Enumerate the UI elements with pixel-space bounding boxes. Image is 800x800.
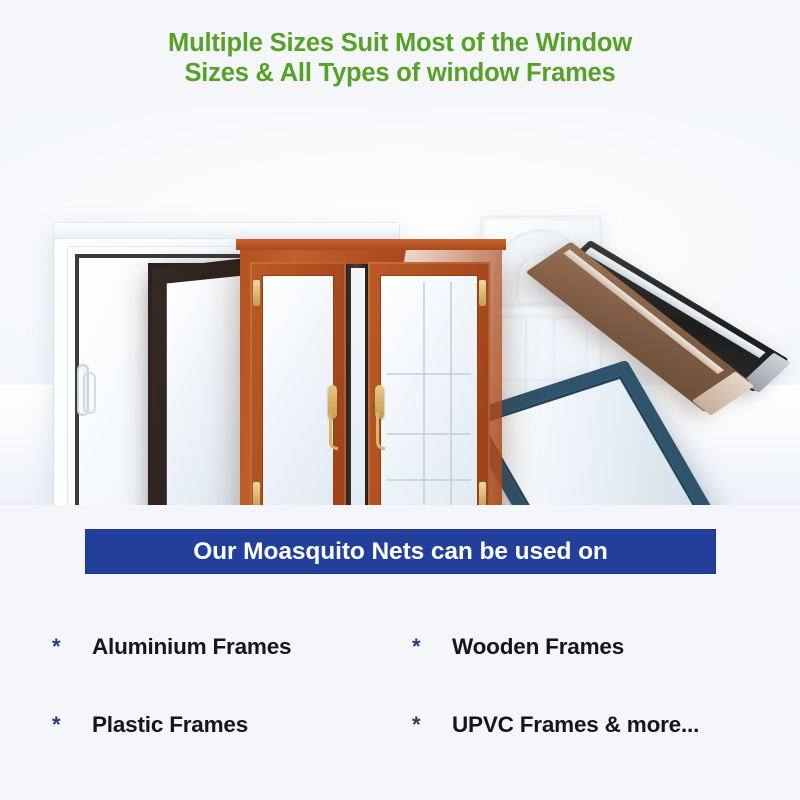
wooden-window-right-glass bbox=[380, 275, 478, 505]
list-item: * Plastic Frames bbox=[44, 686, 404, 764]
page-title-line-2: Sizes & All Types of window Frames bbox=[0, 58, 800, 88]
hinge-icon bbox=[479, 280, 486, 306]
wooden-window-right-leaf bbox=[368, 262, 490, 505]
list-item: * Wooden Frames bbox=[404, 608, 774, 686]
list-item-label: Aluminium Frames bbox=[92, 634, 291, 660]
usage-banner-label: Our Moasquito Nets can be used on bbox=[193, 538, 608, 566]
sliding-window-handle bbox=[77, 364, 89, 416]
wooden-window-mullion bbox=[346, 264, 370, 505]
glass-reflection bbox=[387, 373, 471, 375]
wooden-double-casement-window bbox=[240, 248, 502, 505]
wooden-window-lintel bbox=[236, 239, 506, 250]
asterisk-icon: * bbox=[404, 714, 438, 736]
wooden-window-mullion-glass bbox=[351, 268, 365, 505]
usage-banner: Our Moasquito Nets can be used on bbox=[86, 530, 715, 573]
hinge-icon bbox=[253, 482, 260, 505]
glass-reflection bbox=[423, 282, 425, 505]
wooden-window-frame bbox=[240, 248, 502, 505]
list-item-label: Plastic Frames bbox=[92, 712, 248, 738]
page-title: Multiple Sizes Suit Most of the Window S… bbox=[0, 28, 800, 88]
list-item: * UPVC Frames & more... bbox=[404, 686, 774, 764]
product-image bbox=[0, 105, 800, 505]
frame-type-list: * Aluminium Frames * Wooden Frames * Pla… bbox=[44, 608, 774, 764]
glass-reflection bbox=[450, 282, 452, 505]
asterisk-icon: * bbox=[44, 636, 78, 658]
wooden-window-left-glass bbox=[262, 275, 334, 505]
list-item-label: UPVC Frames & more... bbox=[452, 712, 699, 738]
wooden-window-right-handle bbox=[375, 385, 384, 419]
asterisk-icon: * bbox=[404, 636, 438, 658]
glass-reflection bbox=[387, 433, 471, 435]
page-title-line-1: Multiple Sizes Suit Most of the Window bbox=[0, 28, 800, 58]
asterisk-icon: * bbox=[44, 714, 78, 736]
sliding-window-head-rail bbox=[54, 223, 399, 239]
glass-reflection bbox=[387, 479, 471, 481]
wooden-window-left-handle bbox=[328, 385, 337, 419]
list-item: * Aluminium Frames bbox=[44, 608, 404, 686]
hinge-icon bbox=[479, 482, 486, 505]
wooden-window-left-leaf bbox=[250, 262, 346, 505]
list-item-label: Wooden Frames bbox=[452, 634, 624, 660]
hinge-icon bbox=[253, 280, 260, 306]
